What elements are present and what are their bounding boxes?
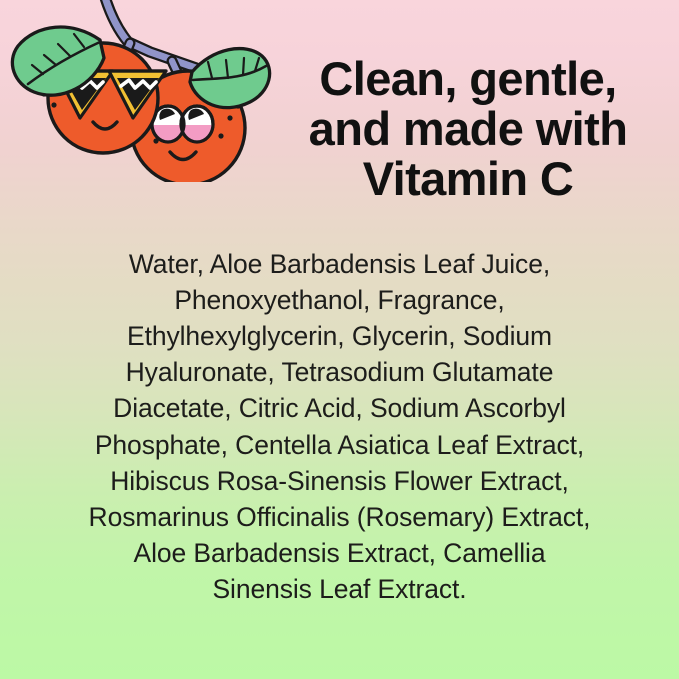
right-leaf-icon <box>190 49 270 108</box>
ingredient-card: Clean, gentle, and made with Vitamin C W… <box>0 0 679 679</box>
oranges-illustration <box>0 0 272 182</box>
ingredients-list-text: Water, Aloe Barbadensis Leaf Juice, Phen… <box>36 246 643 608</box>
page-title: Clean, gentle, and made with Vitamin C <box>268 54 668 204</box>
